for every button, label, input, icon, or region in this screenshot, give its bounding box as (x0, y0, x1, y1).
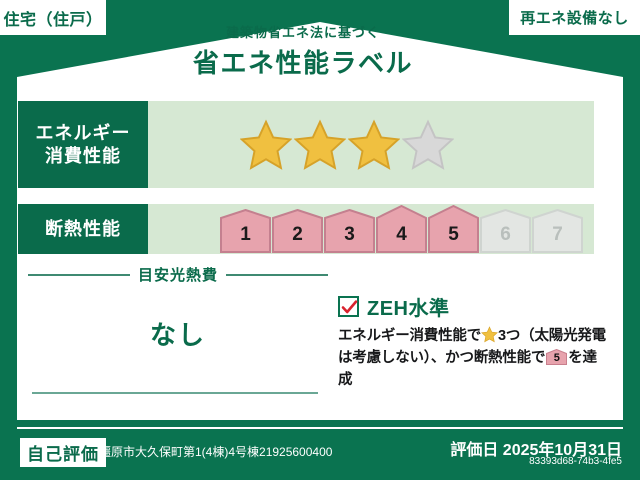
zeh-title: ZEH水準 (367, 292, 450, 321)
zeh-heading: ZEH水準 (338, 292, 610, 321)
energy-label-page: { "badges": { "left": "住宅（住戸）", "right":… (0, 0, 640, 480)
insulation-level-4: 4 (376, 205, 427, 253)
badge-dwelling-type: 住宅（住戸） (0, 0, 106, 35)
insulation-level-number: 4 (376, 224, 427, 246)
star-icon-filled (240, 119, 292, 171)
heading-rule-left (28, 274, 130, 276)
star-icon-filled (294, 119, 346, 171)
zeh-checkbox[interactable] (338, 296, 359, 317)
zeh-description: エネルギー消費性能で 3つ（太陽光発電は考慮しない）、かつ断熱性能で 5を達成 (338, 326, 610, 391)
utility-cost-block: 目安光熱費 なし (28, 264, 328, 352)
badge-renewable-equipment-label: 再エネ設備なし (520, 7, 629, 28)
insulation-level-scale: 1234567 (220, 205, 584, 253)
insulation-performance-label: 断熱性能 (18, 204, 148, 254)
insulation-performance-body: 1234567 (148, 204, 594, 254)
insulation-level-2: 2 (272, 209, 323, 253)
insulation-performance-row: 断熱性能 1234567 (18, 204, 594, 254)
insulation-level-number: 2 (272, 224, 323, 246)
insulation-level-number: 7 (532, 224, 583, 246)
insulation-performance-label-text: 断熱性能 (45, 218, 121, 241)
energy-performance-body (148, 101, 594, 188)
zeh-block: ZEH水準 エネルギー消費性能で 3つ（太陽光発電は考慮しない）、かつ断熱性能で… (338, 292, 610, 391)
insulation-level-1: 1 (220, 209, 271, 253)
star-rating (240, 119, 454, 171)
energy-performance-label-line2: 消費性能 (45, 145, 121, 168)
zeh-desc-house-num: 5 (546, 351, 567, 365)
utility-cost-bottom-rule (32, 392, 318, 394)
insulation-level-3: 3 (324, 209, 375, 253)
insulation-level-number: 6 (480, 224, 531, 246)
insulation-level-6: 6 (480, 209, 531, 253)
zeh-desc-part1: エネルギー消費性能で (338, 328, 481, 344)
star-icon-empty (402, 119, 454, 171)
insulation-level-5: 5 (428, 205, 479, 253)
self-evaluation-badge: 自己評価 (20, 438, 106, 467)
badge-renewable-equipment: 再エネ設備なし (509, 0, 640, 35)
energy-performance-label-line1: エネルギー (36, 122, 131, 145)
document-id: 83393d68-74b3-4fe5 (529, 456, 622, 467)
insulation-level-number: 3 (324, 224, 375, 246)
energy-performance-label: エネルギー 消費性能 (18, 101, 148, 188)
insulation-level-7: 7 (532, 209, 583, 253)
check-icon (341, 299, 358, 316)
footer-divider (17, 427, 623, 429)
energy-performance-row: エネルギー 消費性能 (18, 101, 594, 188)
property-address: 橿原市大久保町第1(4棟)4号棟21925600400 (99, 443, 332, 460)
star-icon-inline (481, 326, 498, 343)
zeh-desc-part2: 3つ（太陽光発電 (498, 328, 606, 344)
heading-rule-right (226, 274, 328, 276)
badge-dwelling-type-label: 住宅（住戸） (3, 6, 102, 30)
house-icon-inline: 5 (546, 349, 567, 365)
star-icon-filled (348, 119, 400, 171)
footer: 自己評価 橿原市大久保町第1(4棟)4号棟21925600400 評価日 202… (0, 432, 640, 480)
utility-cost-value: なし (28, 315, 328, 352)
utility-cost-heading: 目安光熱費 (28, 264, 328, 285)
insulation-level-number: 5 (428, 224, 479, 246)
utility-cost-title: 目安光熱費 (138, 264, 218, 285)
insulation-level-number: 1 (220, 224, 271, 246)
zeh-desc-part3: は考慮しない）、かつ断熱性能で (338, 350, 545, 366)
